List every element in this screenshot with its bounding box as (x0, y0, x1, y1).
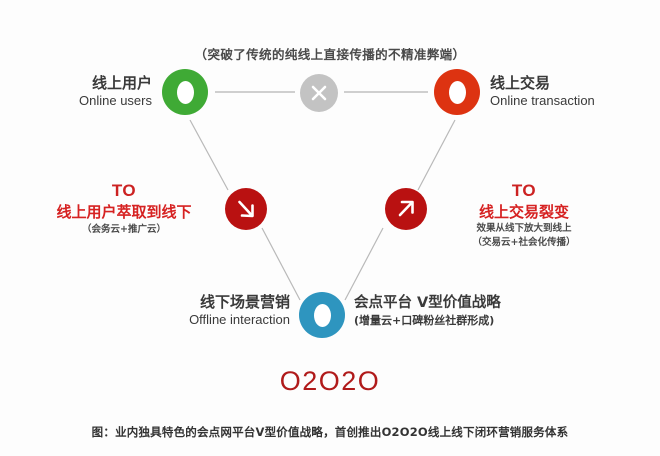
line-arrowdown-to-offline (262, 228, 300, 300)
figure-caption: 图：业内独具特色的会点网平台V型价值战略，首创推出O2O2O线上线下闭环营销服务… (0, 424, 660, 440)
ring-icon (177, 81, 194, 104)
label-online-users: 线上用户 Online users (12, 74, 152, 110)
online-transaction-en: Online transaction (490, 93, 655, 110)
flow-left-text: TO 线上用户萃取到线下 （会务云+推广云） (30, 182, 218, 237)
arrow-up-right-icon (385, 188, 427, 230)
diagram-canvas: （突破了传统的纯线上直接传播的不精准弊端） 线上用户 Online users … (0, 0, 660, 456)
online-users-en: Online users (12, 93, 152, 110)
arrow-down-right-icon (225, 188, 267, 230)
offline-cn: 线下场景营销 (130, 293, 290, 312)
line-arrowup-to-transaction (418, 120, 455, 190)
header-note: （突破了传统的纯线上直接传播的不精准弊端） (0, 44, 660, 63)
line-offline-to-arrowup (345, 228, 383, 300)
flow-right-note-1: 效果从线下放大到线上 (424, 223, 624, 236)
node-cross-separator[interactable] (300, 74, 338, 112)
flow-right-note-2: （交易云+社会化传播） (424, 237, 624, 250)
node-online-transaction[interactable] (434, 69, 480, 115)
ring-icon (314, 304, 331, 327)
node-arrow-down-right[interactable] (225, 188, 267, 230)
flow-left-to-word: TO (30, 182, 218, 201)
flow-left-cn: 线上用户萃取到线下 (30, 203, 218, 223)
platform-cn: 会点平台 V型价值战略 (354, 294, 564, 312)
ring-icon (449, 81, 466, 104)
line-users-to-arrowdown (190, 120, 228, 190)
flow-right-text: TO 线上交易裂变 效果从线下放大到线上 （交易云+社会化传播） (424, 182, 624, 250)
node-offline-interaction[interactable] (299, 292, 345, 338)
online-transaction-cn: 线上交易 (490, 74, 655, 93)
close-x-icon (300, 74, 338, 112)
node-online-users[interactable] (162, 69, 208, 115)
offline-en: Offline interaction (130, 312, 290, 329)
flow-right-to-word: TO (424, 182, 624, 201)
node-arrow-up-right[interactable] (385, 188, 427, 230)
flow-left-note: （会务云+推广云） (30, 224, 218, 237)
flow-right-cn: 线上交易裂变 (424, 203, 624, 223)
label-offline-interaction: 线下场景营销 Offline interaction (130, 293, 290, 329)
online-users-cn: 线上用户 (12, 74, 152, 93)
label-online-transaction: 线上交易 Online transaction (490, 74, 655, 110)
label-platform-strategy: 会点平台 V型价值战略 (增量云+口碑粉丝社群形成) (354, 294, 564, 328)
brand-title: O2O2O (0, 366, 660, 397)
platform-note: (增量云+口碑粉丝社群形成) (354, 314, 564, 328)
